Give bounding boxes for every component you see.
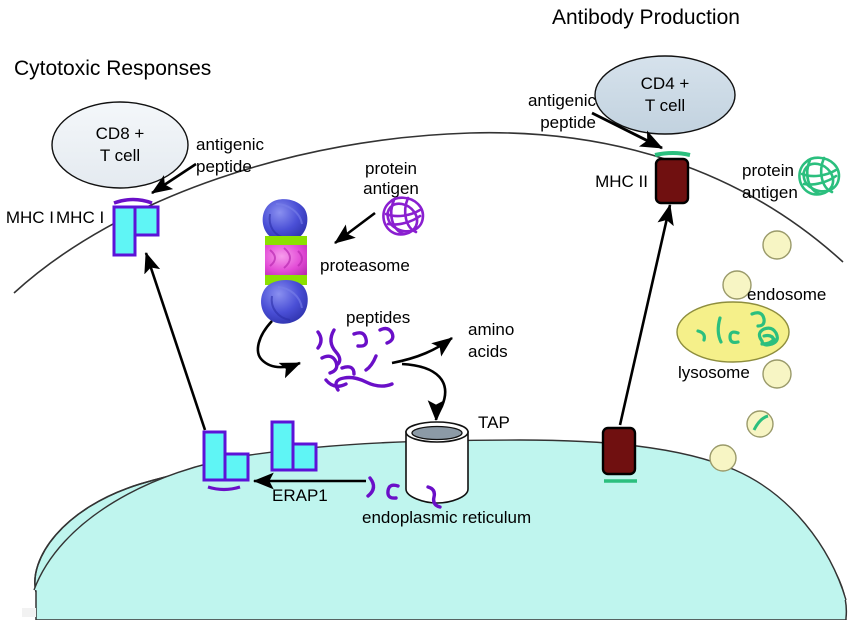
cd8-t-cell-body — [52, 102, 188, 188]
title-cytotoxic-responses: Cytotoxic Responses — [14, 57, 211, 80]
tap-label: TAP — [478, 413, 510, 432]
protein-antigen-right-line1: protein — [742, 161, 794, 180]
mhc-i-bound-peptide — [114, 200, 152, 204]
amino-acids: amino acids — [392, 320, 514, 363]
endosome-5[interactable] — [710, 445, 736, 471]
amino-acids-line1: amino — [468, 320, 514, 339]
endosome-4[interactable] — [747, 411, 773, 437]
mhc-ii-bound-peptide — [655, 153, 690, 155]
peptides-cytosol: peptides — [318, 308, 410, 390]
cd8-t-cell[interactable]: CD8 + T cell — [52, 102, 188, 188]
antigenic-peptide-left-line1: antigenic — [196, 135, 265, 154]
arrow-peptides-to-tap — [402, 364, 445, 420]
cd4-t-cell-body — [595, 56, 735, 134]
endosome-3[interactable] — [763, 360, 791, 388]
bottom-left-mark — [22, 608, 36, 617]
antigenic-peptide-left-line2: peptide — [196, 157, 252, 176]
erap1-label: ERAP1 — [272, 486, 328, 505]
antigenic-peptide-right-line1: antigenic — [528, 91, 597, 110]
protein-antigen-cytosolic: protein antigen — [335, 159, 423, 243]
arrow-antigen-to-proteasome — [335, 213, 375, 243]
mhc-i-er-b[interactable] — [272, 422, 316, 470]
endosome-1[interactable] — [763, 231, 791, 259]
mhc-i-er-b-chain-a — [272, 422, 293, 470]
mhc-ii-body — [656, 159, 688, 203]
protein-antigen-left-line1: protein — [365, 159, 417, 178]
amino-acids-line2: acids — [468, 342, 508, 361]
protein-antigen-left-line2: antigen — [363, 179, 419, 198]
mhc-i-chain-a — [114, 207, 135, 255]
mhc-ii-er[interactable] — [603, 428, 637, 481]
arrow-peptides-to-amino-acids — [392, 338, 452, 363]
arrow-mhc1-er-to-surface — [146, 253, 205, 430]
mhc-i-caption: MHC I — [56, 208, 104, 227]
cd8-label-line1: CD8 + — [96, 124, 145, 143]
mhc-i-chain-b — [135, 207, 158, 235]
cd8-label-line2: T cell — [100, 146, 140, 165]
mhc-ii-label: MHC II — [595, 172, 648, 191]
cd4-label-line1: CD4 + — [641, 74, 690, 93]
diagram-canvas: Cytotoxic Responses Antibody Production … — [0, 0, 860, 620]
lysosome-label: lysosome — [678, 363, 750, 382]
endosome-label: endosome — [747, 285, 826, 304]
mhc-i-er-a-chain-a — [204, 432, 225, 480]
proteasome-label: proteasome — [320, 256, 410, 275]
peptides-label: peptides — [346, 308, 410, 327]
mhc-i-er-b-chain-b — [293, 444, 316, 470]
antigen-purple-coil — [383, 198, 423, 235]
cd4-label-line2: T cell — [645, 96, 685, 115]
mhc-ii-surface[interactable]: MHC II — [595, 153, 690, 203]
mhc-i-er-a-chain-b — [225, 454, 248, 480]
antigen-presentation-diagram: Cytotoxic Responses Antibody Production … — [0, 0, 860, 620]
arrow-mhc2-er-to-surface — [620, 205, 670, 425]
mhc-i-er-a[interactable] — [204, 432, 248, 490]
antigenic-peptide-right-line2: peptide — [540, 113, 596, 132]
protein-antigen-right-line2: antigen — [742, 183, 798, 202]
antigen-green-coil — [799, 158, 839, 195]
endoplasmic-reticulum-label: endoplasmic reticulum — [362, 508, 531, 527]
title-antibody-production: Antibody Production — [552, 6, 740, 29]
arrow-proteasome-to-peptides — [258, 321, 300, 367]
protein-antigen-extracellular: protein antigen — [742, 158, 839, 202]
mhc-i-label: MHC I — [6, 208, 54, 227]
mhc-ii-er-body — [603, 428, 635, 474]
cd4-t-cell[interactable]: CD4 + T cell — [595, 56, 735, 134]
